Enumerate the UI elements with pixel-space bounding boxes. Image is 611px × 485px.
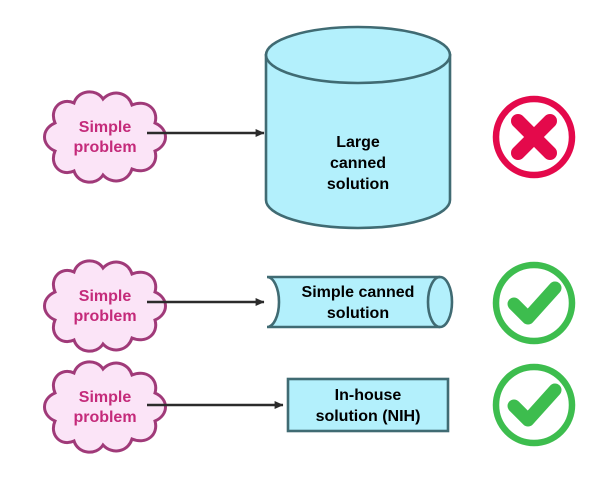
solution-rectangle[interactable]: In-house solution (NIH) xyxy=(288,379,448,431)
cloud-shape xyxy=(45,92,166,182)
solution-label-line1: Simple canned xyxy=(302,284,415,301)
row-simple-canned: Simple problem Simple canned solution xyxy=(45,261,573,351)
solution-label-line2: canned xyxy=(330,155,386,172)
circle-x-cross xyxy=(518,121,550,153)
circle-check-tick xyxy=(514,390,555,420)
row-large-canned: Simple problem Large canned solution xyxy=(45,27,573,228)
problem-label-line2: problem xyxy=(73,409,136,426)
diagram-canvas: Simple problem Large canned solution Sim… xyxy=(0,0,611,485)
circle-check-icon[interactable] xyxy=(496,367,572,443)
problem-label-line1: Simple xyxy=(79,288,132,305)
problem-cloud-1[interactable]: Simple problem xyxy=(45,92,166,182)
row-in-house: Simple problem In-house solution (NIH) xyxy=(45,362,573,452)
problem-label-line1: Simple xyxy=(79,119,132,136)
problem-cloud-2[interactable]: Simple problem xyxy=(45,261,166,351)
solution-label-line3: solution xyxy=(327,176,389,193)
problem-cloud-3[interactable]: Simple problem xyxy=(45,362,166,452)
circle-check-tick xyxy=(514,288,555,318)
solution-label-line1: In-house xyxy=(335,387,402,404)
solution-label-line2: solution (NIH) xyxy=(316,408,421,425)
cloud-shape xyxy=(45,362,166,452)
circle-x-icon[interactable] xyxy=(496,99,572,175)
solution-cylinder-vertical[interactable]: Large canned solution xyxy=(266,27,450,228)
problem-label-line2: problem xyxy=(73,139,136,156)
problem-label-line1: Simple xyxy=(79,389,132,406)
cloud-shape xyxy=(45,261,166,351)
problem-label-line2: problem xyxy=(73,308,136,325)
circle-check-icon[interactable] xyxy=(496,265,572,341)
solution-label-line2: solution xyxy=(327,305,389,322)
solution-label-line1: Large xyxy=(336,134,380,151)
solution-tube-horizontal[interactable]: Simple canned solution xyxy=(267,277,452,327)
cylinder-top-ellipse xyxy=(266,27,450,83)
